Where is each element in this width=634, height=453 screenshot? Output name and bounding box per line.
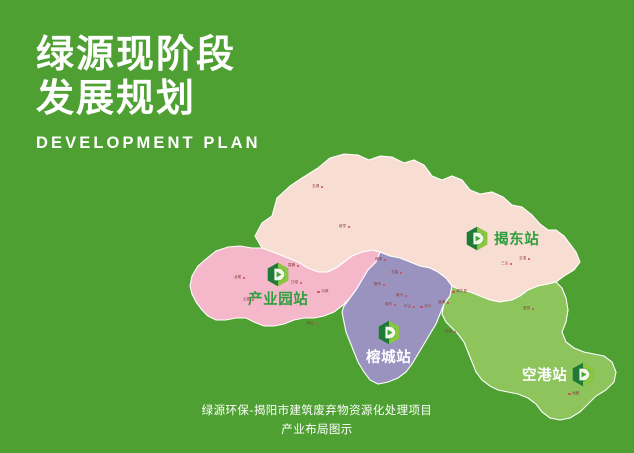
caption-line-1: 绿源环保-揭阳市建筑废弃物资源化处理项目 <box>0 401 634 420</box>
city-label-text: 龙尾 <box>234 276 241 280</box>
city-label: 三山 <box>501 262 512 266</box>
city-dot-icon <box>400 272 403 275</box>
city-label-text: 揭东县 <box>456 290 467 294</box>
city-dot-icon <box>316 323 319 326</box>
city-label: 龙尾 <box>234 276 245 280</box>
city-label-text: 玉滘 <box>519 257 526 261</box>
city-label-text: 地都 <box>572 392 579 396</box>
city-label: 玉湖 <box>312 185 323 189</box>
city-label-text: 月城 <box>321 290 328 294</box>
city-dot-icon <box>454 331 457 334</box>
city-dot-icon <box>452 291 455 294</box>
lvyuan-logo-icon <box>267 262 289 287</box>
city-dot-icon <box>243 277 246 280</box>
page-title-line-1: 绿源现阶段 <box>36 32 261 76</box>
city-dot-icon <box>348 226 351 229</box>
city-label: 登岗 <box>523 307 534 311</box>
city-label: 渔湖 <box>438 301 449 305</box>
page-subtitle-english: DEVELOPMENT PLAN <box>36 134 261 153</box>
city-label-text: 玉湖 <box>312 185 319 189</box>
city-label: 新兴 <box>396 294 407 298</box>
city-dot-icon <box>384 259 387 262</box>
lvyuan-logo-icon <box>572 362 594 387</box>
city-label: 新亨 <box>339 225 350 229</box>
city-label-text: 玉窖 <box>391 271 398 275</box>
lvyuan-logo-icon <box>466 226 488 251</box>
page-title-line-2: 发展规划 <box>36 76 261 120</box>
city-label: 磐东 <box>374 283 385 287</box>
city-label-text: 榕东 <box>385 303 392 307</box>
city-dot-icon <box>420 306 423 309</box>
city-label-text: 三山 <box>501 262 508 266</box>
city-label: 榕东 <box>385 303 396 307</box>
city-dot-icon <box>383 284 386 287</box>
city-label-text: 磐东 <box>374 283 381 287</box>
city-dot-icon <box>317 291 320 294</box>
station-marker-rongcheng[interactable]: 榕城站 <box>366 320 411 367</box>
city-label: 月城 <box>317 290 328 294</box>
station-marker-jiedong[interactable]: 揭东站 <box>466 226 539 251</box>
development-plan-poster: 玉湖新亨锡场霖磐白塔龙尾月城云路磐东玉窖新兴中山榕东东兴梅云渔湖揭东县三山玉滘炮… <box>0 0 634 453</box>
station-marker-konggang[interactable]: 空港站 <box>522 362 594 387</box>
city-dot-icon <box>321 186 324 189</box>
city-label: 东兴 <box>420 305 431 309</box>
city-dot-icon <box>568 393 571 396</box>
title-block: 绿源现阶段 发展规划 DEVELOPMENT PLAN <box>36 32 261 153</box>
lvyuan-logo-icon <box>378 320 400 345</box>
station-label-rongcheng: 榕城站 <box>366 346 411 367</box>
city-label: 锡场 <box>375 258 386 262</box>
caption-line-2: 产业布局图示 <box>0 420 634 439</box>
city-label: 炮台 <box>445 330 456 334</box>
city-label-text: 炮台 <box>445 330 452 334</box>
city-label: 梅云 <box>307 322 318 326</box>
city-label-text: 新亨 <box>339 225 346 229</box>
city-label-text: 梅云 <box>307 322 314 326</box>
station-label-chanyeyuan: 产业园站 <box>248 288 308 309</box>
city-label-text: 锡场 <box>375 258 382 262</box>
city-dot-icon <box>405 295 408 298</box>
city-label: 中山 <box>404 305 415 309</box>
city-dot-icon <box>447 302 450 305</box>
station-label-konggang: 空港站 <box>522 364 567 385</box>
city-label: 玉滘 <box>519 257 530 261</box>
city-label: 地都 <box>568 392 579 396</box>
city-dot-icon <box>528 258 531 261</box>
city-dot-icon <box>532 308 535 311</box>
city-label-text: 中山 <box>404 305 411 309</box>
station-marker-chanyeyuan[interactable]: 产业园站 <box>248 262 308 309</box>
city-dot-icon <box>394 304 397 307</box>
city-label-text: 登岗 <box>523 307 530 311</box>
city-label: 揭东县 <box>452 290 467 294</box>
station-label-jiedong: 揭东站 <box>494 228 539 249</box>
city-label-text: 新兴 <box>396 294 403 298</box>
caption-block: 绿源环保-揭阳市建筑废弃物资源化处理项目 产业布局图示 <box>0 401 634 439</box>
map-region-southeast[interactable] <box>442 282 616 420</box>
city-label-text: 东兴 <box>424 305 431 309</box>
city-label: 玉窖 <box>391 271 402 275</box>
city-dot-icon <box>510 263 513 266</box>
city-label-text: 渔湖 <box>438 301 445 305</box>
city-dot-icon <box>413 306 416 309</box>
